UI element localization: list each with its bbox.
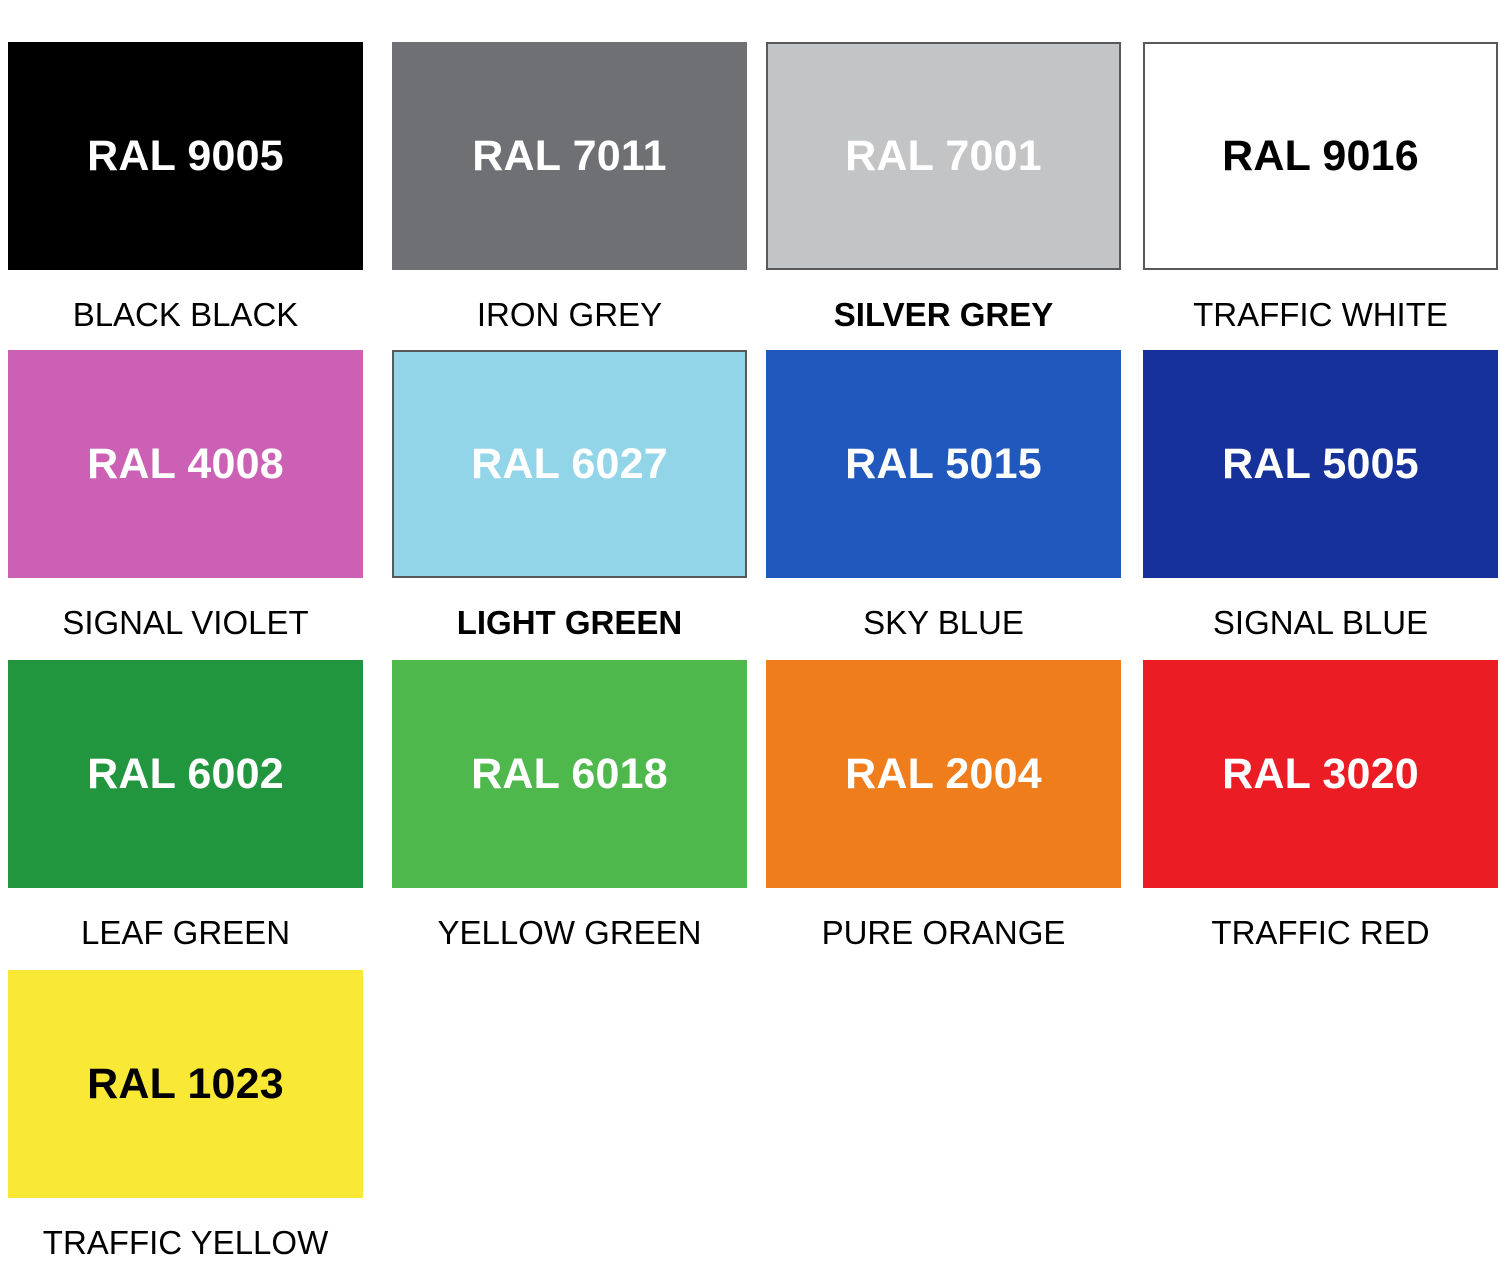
swatch-name-label: TRAFFIC WHITE: [1143, 298, 1498, 331]
swatch-cell[interactable]: RAL 6018YELLOW GREEN: [392, 660, 747, 949]
swatch-code-label: RAL 7011: [472, 135, 666, 178]
colour-swatch[interactable]: RAL 9016: [1143, 42, 1498, 270]
swatch-name-label: BLACK BLACK: [8, 298, 363, 331]
colour-swatch[interactable]: RAL 6018: [392, 660, 747, 888]
swatch-cell[interactable]: RAL 6002LEAF GREEN: [8, 660, 363, 949]
swatch-cell[interactable]: RAL 2004PURE ORANGE: [766, 660, 1121, 949]
swatch-name-label: YELLOW GREEN: [392, 916, 747, 949]
swatch-code-label: RAL 6002: [87, 753, 284, 796]
swatch-code-label: RAL 3020: [1222, 753, 1419, 796]
swatch-code-label: RAL 9005: [87, 135, 284, 178]
colour-swatch[interactable]: RAL 2004: [766, 660, 1121, 888]
swatch-cell[interactable]: RAL 9005BLACK BLACK: [8, 42, 363, 331]
swatch-code-label: RAL 2004: [845, 753, 1042, 796]
colour-swatch[interactable]: RAL 7001: [766, 42, 1121, 270]
swatch-cell[interactable]: RAL 7001SILVER GREY: [766, 42, 1121, 331]
swatch-code-label: RAL 7001: [845, 135, 1042, 178]
colour-swatch[interactable]: RAL 6027: [392, 350, 747, 578]
swatch-name-label: TRAFFIC RED: [1143, 916, 1498, 949]
swatch-name-label: LEAF GREEN: [8, 916, 363, 949]
swatch-cell[interactable]: RAL 7011IRON GREY: [392, 42, 747, 331]
colour-swatch[interactable]: RAL 1023: [8, 970, 363, 1198]
swatch-code-label: RAL 4008: [87, 443, 284, 486]
swatch-name-label: LIGHT GREEN: [392, 606, 747, 639]
swatch-cell[interactable]: RAL 9016TRAFFIC WHITE: [1143, 42, 1498, 331]
swatch-cell[interactable]: RAL 1023TRAFFIC YELLOW: [8, 970, 363, 1259]
swatch-name-label: SIGNAL BLUE: [1143, 606, 1498, 639]
swatch-code-label: RAL 5015: [845, 443, 1042, 486]
swatch-name-label: SILVER GREY: [766, 298, 1121, 331]
swatch-name-label: TRAFFIC YELLOW: [8, 1226, 363, 1259]
swatch-code-label: RAL 9016: [1222, 135, 1419, 178]
swatch-cell[interactable]: RAL 3020TRAFFIC RED: [1143, 660, 1498, 949]
swatch-cell[interactable]: RAL 4008SIGNAL VIOLET: [8, 350, 363, 639]
colour-swatch[interactable]: RAL 7011: [392, 42, 747, 270]
swatch-name-label: SKY BLUE: [766, 606, 1121, 639]
colour-swatch[interactable]: RAL 3020: [1143, 660, 1498, 888]
colour-swatch[interactable]: RAL 9005: [8, 42, 363, 270]
swatch-cell[interactable]: RAL 5005SIGNAL BLUE: [1143, 350, 1498, 639]
swatch-code-label: RAL 6018: [471, 753, 668, 796]
swatch-code-label: RAL 1023: [87, 1063, 284, 1106]
swatch-name-label: IRON GREY: [392, 298, 747, 331]
swatch-name-label: PURE ORANGE: [766, 916, 1121, 949]
ral-colour-chart: RAL 9005BLACK BLACKRAL 7011IRON GREYRAL …: [0, 0, 1500, 1286]
swatch-name-label: SIGNAL VIOLET: [8, 606, 363, 639]
swatch-code-label: RAL 6027: [471, 443, 668, 486]
swatch-cell[interactable]: RAL 5015SKY BLUE: [766, 350, 1121, 639]
swatch-code-label: RAL 5005: [1222, 443, 1419, 486]
colour-swatch[interactable]: RAL 5005: [1143, 350, 1498, 578]
colour-swatch[interactable]: RAL 5015: [766, 350, 1121, 578]
colour-swatch[interactable]: RAL 6002: [8, 660, 363, 888]
colour-swatch[interactable]: RAL 4008: [8, 350, 363, 578]
swatch-cell[interactable]: RAL 6027LIGHT GREEN: [392, 350, 747, 639]
